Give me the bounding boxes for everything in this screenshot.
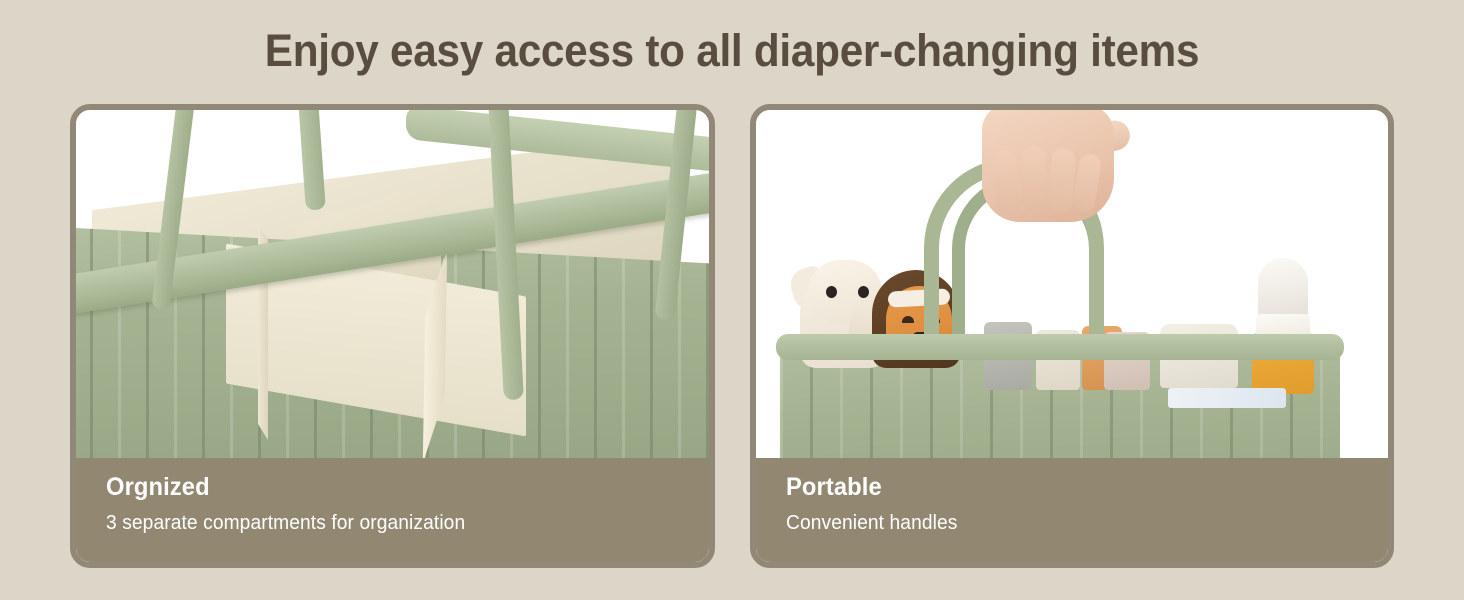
baby-bottle-cap xyxy=(1258,258,1308,320)
feature-card-portable: Portable Convenient handles xyxy=(750,104,1395,568)
feature-card-organized: Orgnized 3 separate compartments for org… xyxy=(70,104,715,568)
page-title: Enjoy easy access to all diaper-changing… xyxy=(44,23,1420,79)
plush-elephant-eye xyxy=(858,286,869,298)
caption-title: Portable xyxy=(786,471,1358,503)
card-caption: Portable Convenient handles xyxy=(756,458,1389,562)
hand-finger xyxy=(1022,146,1046,212)
caddy-rim-front xyxy=(776,334,1344,360)
feature-card-row: Orgnized 3 separate compartments for org… xyxy=(70,104,1394,568)
caption-subtitle: Convenient handles xyxy=(786,510,1364,536)
plush-elephant-eye xyxy=(826,286,837,298)
wipes-label xyxy=(1168,388,1286,408)
plush-lion-eye xyxy=(902,316,914,323)
product-feature-banner: Enjoy easy access to all diaper-changing… xyxy=(0,0,1464,600)
hand-finger xyxy=(1047,147,1076,215)
caption-subtitle: 3 separate compartments for organization xyxy=(106,510,684,536)
caption-title: Orgnized xyxy=(106,471,678,503)
card-caption: Orgnized 3 separate compartments for org… xyxy=(76,458,709,562)
